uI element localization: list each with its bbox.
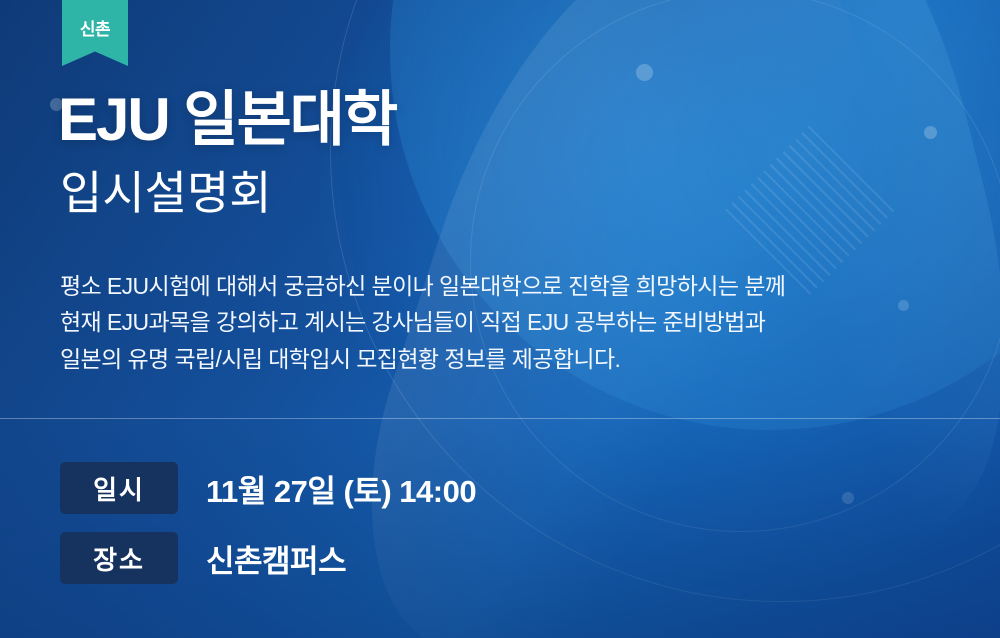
description-block: 평소 EJU시험에 대해서 궁금하신 분이나 일본대학으로 진학을 희망하시는 …	[60, 268, 785, 377]
section-divider	[0, 418, 1000, 419]
event-date-value: 11월 27일 (토) 14:00	[206, 466, 476, 511]
background-dot	[636, 64, 653, 81]
page-title: EJU 일본대학	[58, 88, 396, 151]
description-line-1: 평소 EJU시험에 대해서 궁금하신 분이나 일본대학으로 진학을 희망하시는 …	[60, 268, 785, 304]
background-dot	[898, 300, 909, 311]
background-dot	[924, 126, 937, 139]
event-place-row: 장소 신촌캠퍼스	[60, 532, 476, 584]
eju-seminar-poster: 신촌 EJU 일본대학 입시설명회 평소 EJU시험에 대해서 궁금하신 분이나…	[0, 0, 1000, 638]
event-date-label: 일시	[60, 462, 178, 514]
event-place-label: 장소	[60, 532, 178, 584]
description-line-3: 일본의 유명 국립/시립 대학입시 모집현황 정보를 제공합니다.	[60, 341, 785, 377]
page-subtitle: 입시설명회	[60, 168, 272, 219]
event-date-row: 일시 11월 27일 (토) 14:00	[60, 462, 476, 514]
event-info-block: 일시 11월 27일 (토) 14:00 장소 신촌캠퍼스	[60, 462, 476, 602]
campus-badge-label: 신촌	[80, 15, 110, 40]
event-place-value: 신촌캠퍼스	[206, 536, 346, 581]
description-line-2: 현재 EJU과목을 강의하고 계시는 강사님들이 직접 EJU 공부하는 준비방…	[60, 304, 785, 340]
